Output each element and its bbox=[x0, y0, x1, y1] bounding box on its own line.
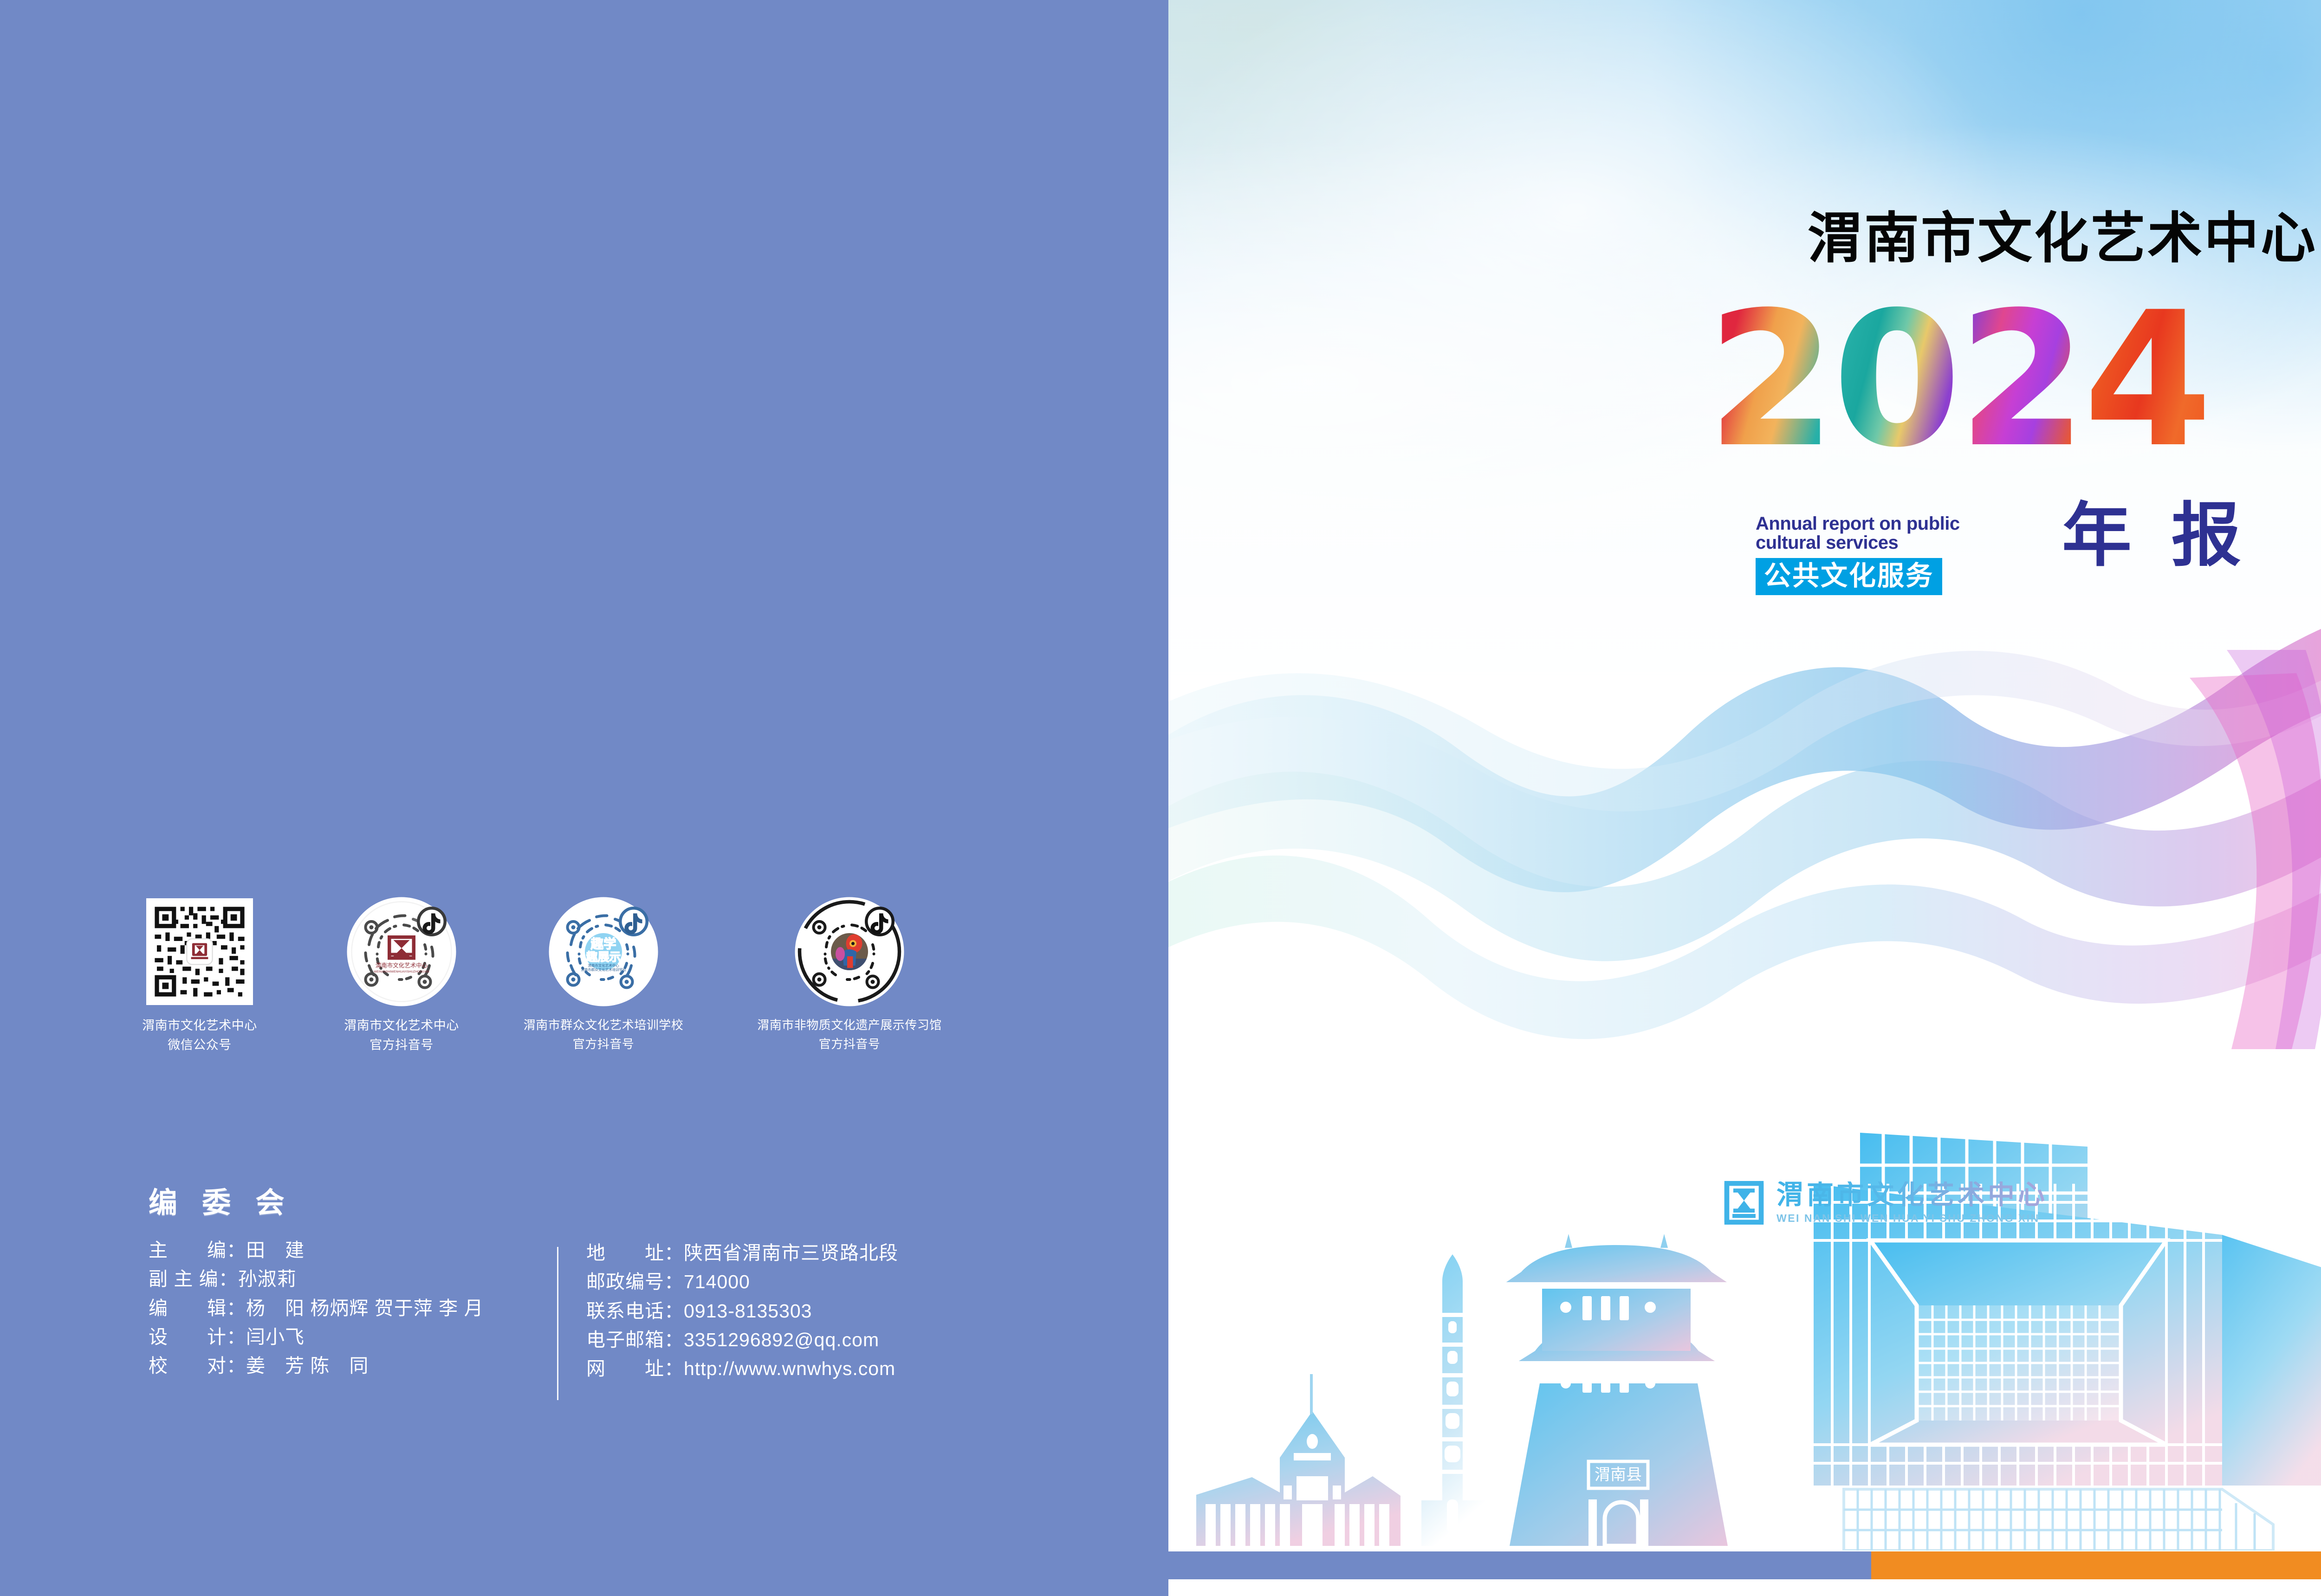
service-badge: 公共文化服务 bbox=[1756, 558, 1942, 595]
qr-center-photo bbox=[831, 933, 868, 970]
editorial-board-title: 编 委 会 bbox=[149, 1179, 1068, 1221]
editorial-row: 副 主 编：孙淑莉 bbox=[149, 1265, 557, 1293]
english-subtitle-line2: cultural services bbox=[1756, 533, 2062, 552]
qr-center-text-2: 趣展示 bbox=[585, 951, 621, 964]
gate-tower-sign-text: 渭南县 bbox=[1595, 1466, 1642, 1484]
qr-caption-line2: 微信公众号 bbox=[130, 1037, 269, 1053]
qr-douyin-center-image[interactable]: 渭南市文化艺术中心 WEINANSHIWENHUAYISHUZHONGXIN bbox=[332, 889, 471, 1014]
logo-pinyin: WEI NAN SHI WEN HUA YI SHU ZHONG XIN bbox=[1776, 1212, 2048, 1225]
qr-caption-line1: 渭南市文化艺术中心 bbox=[130, 1017, 269, 1034]
qr-center-pinyin: WEINANSHIWENHUAYISHUZHONGXIN bbox=[374, 970, 429, 973]
cultural-center-logo-icon bbox=[1722, 1179, 1766, 1226]
qr-item-douyin-center[interactable]: 渭南市文化艺术中心 WEINANSHIWENHUAYISHUZHONGXIN 渭… bbox=[332, 889, 471, 1054]
qr-douyin-heritage-image[interactable] bbox=[733, 889, 966, 1014]
editorial-row: 主 编：田 建 bbox=[149, 1236, 557, 1265]
contact-row-website: 网 址：http://www.wnwhys.com bbox=[586, 1354, 898, 1383]
wave-ribbon-graphic bbox=[1168, 594, 2321, 1049]
logo-chinese-name: 渭南市文化艺术中心 bbox=[1776, 1181, 2048, 1208]
qr-caption-line2: 官方抖音号 bbox=[332, 1037, 471, 1053]
page-title: 渭南市文化艺术中心 bbox=[1667, 211, 2317, 266]
contact-row-phone: 联系电话：0913-8135303 bbox=[586, 1297, 898, 1325]
qr-wechat-image[interactable] bbox=[130, 889, 269, 1014]
qr-center-text-1: 趣学 bbox=[590, 937, 616, 951]
qr-item-douyin-school[interactable]: 趣学 趣展示 渭南市文化艺术中心 渭南市群众文化艺术培训学校 渭南市群众文化艺术… bbox=[506, 889, 701, 1052]
editorial-row: 编 辑：杨 阳 杨炳辉 贺于萍 李 月 bbox=[149, 1294, 557, 1323]
editorial-row: 校 对：姜 芳 陈 同 bbox=[149, 1351, 557, 1380]
wechat-qr-icon bbox=[146, 898, 253, 1005]
qr-caption-line2: 官方抖音号 bbox=[506, 1036, 701, 1052]
douyin-qr-icon: 渭南市文化艺术中心 WEINANSHIWENHUAYISHUZHONGXIN bbox=[344, 894, 460, 1010]
english-subtitle-line1: Annual report on public bbox=[1756, 514, 2062, 533]
douyin-qr-heritage-icon bbox=[791, 894, 908, 1010]
historic-building-silhouette bbox=[1196, 1374, 1400, 1546]
editorial-board-block: 编 委 会 主 编：田 建 副 主 编：孙淑莉 编 辑：杨 阳 杨炳辉 贺于萍 … bbox=[149, 1179, 1068, 1400]
year-number: 2024 bbox=[1707, 288, 2209, 474]
masthead: 渭南市文化艺术中心 bbox=[1667, 211, 2317, 266]
qr-item-douyin-heritage[interactable]: 渭南市非物质文化遗产展示传习馆 官方抖音号 bbox=[733, 889, 966, 1052]
footer-bar-blue bbox=[1168, 1551, 1871, 1579]
annual-report-label: 年 报 bbox=[2062, 500, 2251, 570]
qr-center-sub-2: 渭南市群众文化艺术培训学校 bbox=[581, 967, 626, 972]
contact-row-postcode: 邮政编号：714000 bbox=[586, 1267, 898, 1296]
contact-row-address: 地 址：陕西省渭南市三贤路北段 bbox=[586, 1239, 898, 1267]
qr-caption-line1: 渭南市文化艺术中心 bbox=[332, 1017, 471, 1034]
qr-caption-line1: 渭南市非物质文化遗产展示传习馆 bbox=[733, 1017, 966, 1033]
year-heading: 2024 bbox=[1707, 288, 2209, 474]
pagoda-silhouette bbox=[1421, 1254, 1489, 1546]
editorial-credits-list: 主 编：田 建 副 主 编：孙淑莉 编 辑：杨 阳 杨炳辉 贺于萍 李 月 设 … bbox=[149, 1236, 557, 1381]
qr-center-sub-1: 渭南市文化艺术中心 bbox=[588, 963, 619, 968]
cultural-center-logo: 渭南市文化艺术中心 WEI NAN SHI WEN HUA YI SHU ZHO… bbox=[1722, 1179, 2048, 1226]
gate-tower-silhouette: 渭南县 bbox=[1501, 1234, 1733, 1546]
qr-caption-line1: 渭南市群众文化艺术培训学校 bbox=[506, 1017, 701, 1033]
contact-row-email: 电子邮箱：3351296892@qq.com bbox=[586, 1325, 898, 1354]
front-cover-panel: 渭南市文化艺术中心 2024 Annual report on public c… bbox=[1168, 0, 2321, 1596]
editorial-row: 设 计：闫小飞 bbox=[149, 1323, 557, 1351]
douyin-qr-school-icon: 趣学 趣展示 渭南市文化艺术中心 渭南市群众文化艺术培训学校 bbox=[545, 894, 661, 1010]
contact-info-list: 地 址：陕西省渭南市三贤路北段 邮政编号：714000 联系电话：0913-81… bbox=[586, 1236, 898, 1383]
annual-report-cover-spread: 渭南市文化艺术中心 微信公众号 bbox=[0, 0, 2321, 1596]
vertical-divider bbox=[557, 1247, 558, 1400]
back-cover-panel: 渭南市文化艺术中心 微信公众号 bbox=[0, 0, 1168, 1596]
qr-douyin-school-image[interactable]: 趣学 趣展示 渭南市文化艺术中心 渭南市群众文化艺术培训学校 bbox=[506, 889, 701, 1014]
qr-center-caption: 渭南市文化艺术中心 bbox=[376, 962, 428, 969]
footer-bar-orange bbox=[1871, 1551, 2321, 1579]
subtitle-block: Annual report on public cultural service… bbox=[1756, 514, 2062, 595]
cultural-center-building bbox=[1814, 1184, 2321, 1551]
qr-code-strip: 渭南市文化艺术中心 微信公众号 bbox=[130, 889, 1035, 1084]
qr-item-wechat[interactable]: 渭南市文化艺术中心 微信公众号 bbox=[130, 889, 269, 1054]
qr-caption-line2: 官方抖音号 bbox=[733, 1036, 966, 1052]
